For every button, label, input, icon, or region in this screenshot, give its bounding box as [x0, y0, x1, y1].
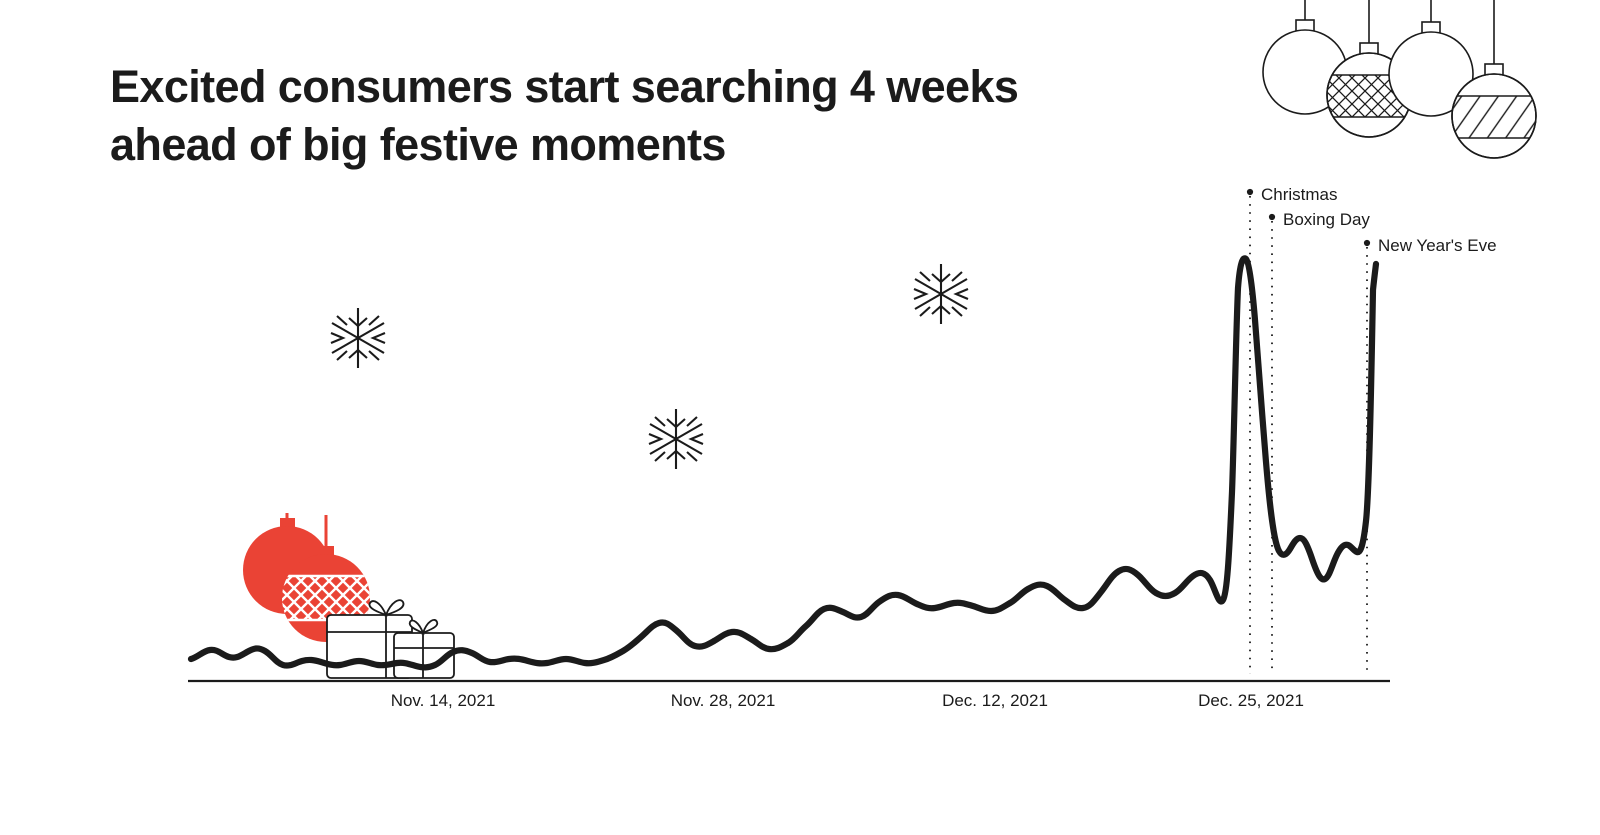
- snowflakes-group: [331, 264, 968, 469]
- x-tick-label-dec-12: Dec. 12, 2021: [942, 692, 1048, 709]
- x-tick-label-dec-25: Dec. 25, 2021: [1198, 692, 1304, 709]
- snowflake-middle-icon: [649, 409, 703, 469]
- annotation-label-new-years-eve: New Year's Eve: [1378, 237, 1497, 254]
- annotation-label-christmas: Christmas: [1261, 186, 1338, 203]
- hanging-ornaments-group: [1263, 0, 1536, 158]
- graphics-layer: [0, 0, 1600, 835]
- annotation-label-boxing-day: Boxing Day: [1283, 211, 1370, 228]
- x-tick-label-nov-28: Nov. 28, 2021: [671, 692, 776, 709]
- snowflake-left-icon: [331, 308, 385, 368]
- annotation-line-boxing-day[interactable]: [1269, 214, 1275, 674]
- x-tick-label-nov-14: Nov. 14, 2021: [391, 692, 496, 709]
- snowflake-right-icon: [914, 264, 968, 324]
- infographic-canvas: Excited consumers start searching 4 week…: [0, 0, 1600, 835]
